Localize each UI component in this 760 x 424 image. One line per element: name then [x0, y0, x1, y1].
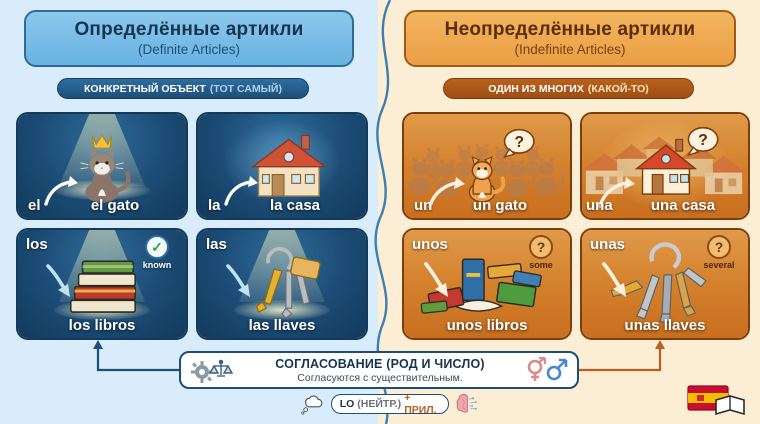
definite-badge: КОНКРЕТНЫЙ ОБЪЕКТ (ТОТ САМЫЙ)	[57, 78, 309, 99]
svg-text:?: ?	[514, 134, 524, 151]
card-las-llaves[interactable]: las las llaves	[196, 228, 368, 340]
card-unas-llaves[interactable]: unas ? several unas llaves	[580, 228, 750, 340]
neuter-label: (НЕЙТР.)	[357, 398, 401, 410]
thought-cloud-icon	[300, 393, 325, 415]
question-mark-icon: ?	[529, 235, 553, 259]
definite-badge-main: КОНКРЕТНЫЙ ОБЪЕКТ	[84, 83, 206, 95]
pointer-arrow-icon	[42, 260, 82, 300]
gear-and-scales-icons	[189, 357, 235, 383]
indefinite-badge-main: ОДИН ИЗ МНОГИХ	[488, 83, 584, 95]
male-gender-icon	[548, 360, 566, 379]
indefinite-badge: ОДИН ИЗ МНОГИХ (КАКОЙ-ТО)	[443, 78, 694, 99]
indefinite-subtitle: (Indefinite Articles)	[406, 42, 734, 57]
definite-title: Определённые артикли	[26, 19, 352, 41]
known-badge-label: known	[134, 260, 180, 270]
article-word-unas: unas	[590, 236, 625, 253]
several-badge-label: several	[696, 260, 742, 270]
lo-adjective-pill[interactable]: LO (НЕЙТР.) + ПРИЛ.	[331, 394, 450, 414]
phrase-una-casa: una casa	[582, 197, 748, 214]
phrase-el-gato: el gato	[18, 197, 186, 214]
footer-icons	[686, 382, 748, 416]
brain-icon	[455, 393, 480, 415]
gender-symbols-icons	[525, 357, 569, 383]
pointer-arrow-icon	[222, 260, 262, 300]
card-unos-libros[interactable]: unos ? some unos libros	[402, 228, 572, 340]
pointer-arrow-icon	[598, 258, 642, 302]
agreement-title: СОГЛАСОВАНИЕ (РОД И ЧИСЛО)	[235, 357, 525, 371]
card-una-casa[interactable]: ? una una casa	[580, 112, 750, 220]
phrase-unos-libros: unos libros	[404, 317, 570, 334]
infographic-canvas: Определённые артикли (Definite Articles)…	[0, 0, 760, 424]
indefinite-articles-header: Неопределённые артикли (Indefinite Artic…	[404, 10, 736, 67]
check-icon: ✓	[145, 235, 169, 259]
definite-subtitle: (Definite Articles)	[26, 42, 352, 57]
agreement-panel: СОГЛАСОВАНИЕ (РОД И ЧИСЛО) Согласуются с…	[179, 351, 579, 389]
lo-label: LO	[340, 398, 355, 410]
indefinite-badge-dim: (КАКОЙ-ТО)	[588, 83, 649, 95]
some-badge-label: some	[518, 260, 564, 270]
question-mark-icon: ?	[707, 235, 731, 259]
card-la-casa[interactable]: la la casa	[196, 112, 368, 220]
definite-articles-header: Определённые артикли (Definite Articles)	[24, 10, 354, 67]
lo-neuter-row: LO (НЕЙТР.) + ПРИЛ.	[300, 392, 480, 416]
adjective-label: + ПРИЛ.	[404, 392, 440, 416]
indefinite-title: Неопределённые артикли	[406, 19, 734, 41]
phrase-las-llaves: las llaves	[198, 317, 366, 334]
card-los-libros[interactable]: los ✓ known los libros	[16, 228, 188, 340]
card-el-gato[interactable]: el el gato	[16, 112, 188, 220]
several-badge: ? several	[696, 235, 742, 270]
phrase-la-casa: la casa	[198, 197, 366, 214]
definite-badge-dim: (ТОТ САМЫЙ)	[210, 83, 282, 95]
svg-text:?: ?	[698, 132, 708, 149]
pointer-arrow-icon	[420, 258, 464, 302]
phrase-unas-llaves: unas llaves	[582, 317, 748, 334]
some-badge: ? some	[518, 235, 564, 270]
known-badge: ✓ known	[134, 235, 180, 270]
agreement-subtitle: Согласуются с существительным.	[235, 372, 525, 384]
gear-icon	[191, 361, 213, 383]
card-un-gato[interactable]: ? un un gato	[402, 112, 572, 220]
phrase-los-libros: los libros	[18, 317, 186, 334]
article-word-unos: unos	[412, 236, 448, 253]
open-book-icon	[716, 396, 744, 414]
article-word-los: los	[26, 236, 48, 253]
article-word-las: las	[206, 236, 227, 253]
phrase-un-gato: un gato	[404, 197, 570, 214]
female-gender-icon	[529, 358, 545, 381]
scales-icon	[210, 360, 232, 376]
